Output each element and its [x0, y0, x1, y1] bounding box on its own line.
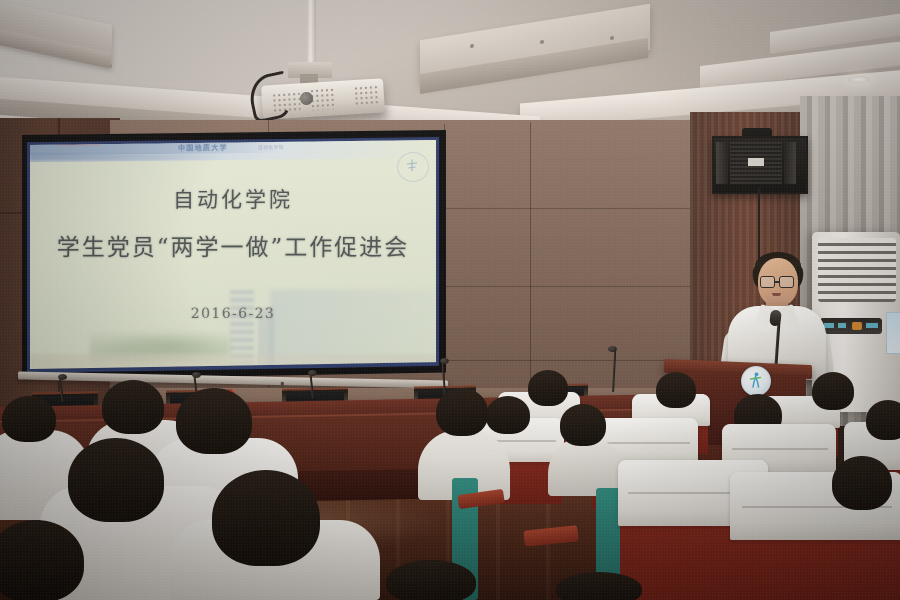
speaker-side-left: [716, 142, 728, 184]
ac-led-icon: [824, 323, 834, 328]
slide-header-fade: [30, 154, 230, 160]
microphone-icon: [440, 358, 449, 364]
audience-head: [176, 388, 252, 454]
audience-head: [656, 372, 696, 408]
audience-head: [102, 380, 164, 434]
slide-university-name: 中国地质大学: [178, 143, 228, 154]
slide-background-building: [230, 290, 254, 364]
audience-head: [560, 404, 606, 446]
audience-head: [528, 370, 568, 406]
ac-led-icon: [866, 323, 878, 328]
downlight-icon: [848, 76, 870, 83]
air-conditioner-grill: [818, 238, 896, 302]
microphone-icon: [608, 346, 617, 352]
audience-head: [386, 560, 476, 600]
slide-title-line2: 学生党员“两学一做”工作促进会: [30, 228, 436, 262]
ac-led-icon: [838, 323, 846, 328]
ac-label-sticker: [886, 312, 900, 354]
seat-cover-fold: [598, 442, 690, 444]
audience-head: [68, 438, 164, 522]
panel-seam: [530, 122, 531, 412]
slide-department-name: 自动化学院: [258, 145, 284, 151]
audience-head: [812, 372, 854, 410]
speaker-wire: [758, 188, 760, 262]
seat-cover-fold: [732, 448, 828, 450]
microphone-icon: [308, 370, 317, 376]
eyeglasses-bridge: [774, 281, 780, 283]
slide-title-line1: 自动化学院: [30, 184, 436, 214]
emblem-mark-icon: [749, 372, 762, 388]
audience-head: [832, 456, 892, 510]
audience-head: [436, 388, 488, 436]
watermark-mark-icon: [406, 159, 418, 172]
audience-head: [486, 396, 530, 434]
audience-head: [556, 572, 642, 600]
eyeglasses-icon: [779, 276, 794, 288]
ac-indicator-icon: [852, 322, 862, 330]
slide-date: 2016-6-23: [30, 306, 436, 322]
speaker-side-right: [784, 142, 796, 184]
audience-head: [212, 470, 320, 566]
eyeglasses-icon: [760, 276, 775, 288]
projector-pole: [307, 0, 316, 68]
microphone-icon: [58, 374, 67, 380]
microphone-icon: [192, 372, 201, 378]
projection-screen: 中国地质大学 自动化学院 自动化学院 学生党员“两学一做”工作促进会 2016-…: [30, 140, 436, 369]
lecture-hall-photo: 中国地质大学 自动化学院 自动化学院 学生党员“两学一做”工作促进会 2016-…: [0, 0, 900, 600]
audience-head: [866, 400, 900, 440]
speaker-brand-badge: [748, 158, 764, 166]
audience-head: [2, 396, 56, 442]
